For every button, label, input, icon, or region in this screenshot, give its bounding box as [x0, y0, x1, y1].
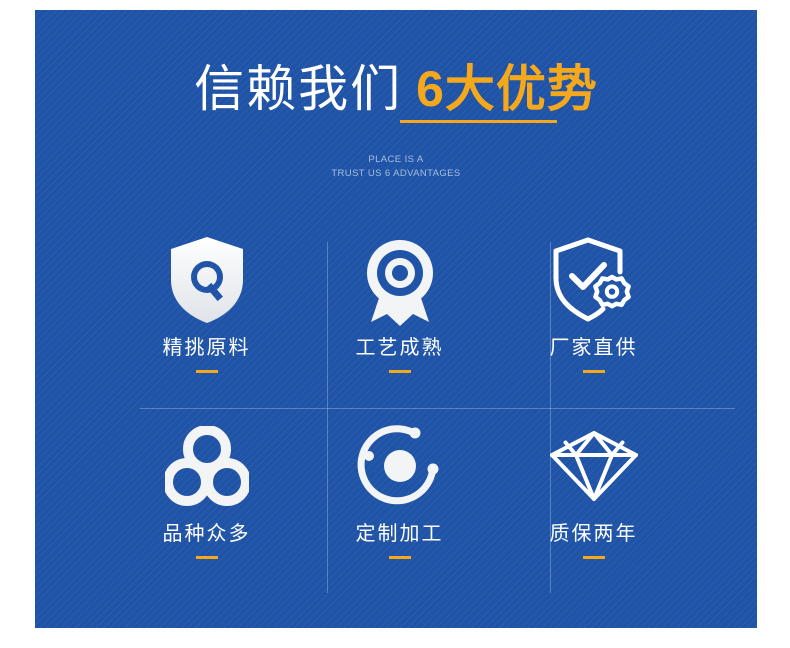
shield-check-gear-icon [497, 234, 690, 326]
feature-label: 工艺成熟 [303, 336, 496, 360]
feature-label: 厂家直供 [497, 336, 690, 360]
feature-label: 精挑原料 [110, 336, 303, 360]
three-rings-icon [110, 420, 303, 512]
feature-item: 厂家直供 [497, 222, 690, 408]
shield-q-icon [110, 234, 303, 326]
subtitle-line-2: TRUST US 6 ADVANTAGES [35, 167, 757, 181]
title-accent-text: 6大优势 [416, 61, 598, 117]
feature-label: 质保两年 [497, 522, 690, 546]
feature-label: 定制加工 [303, 522, 496, 546]
feature-item: 定制加工 [303, 408, 496, 594]
award-ribbon-icon [303, 234, 496, 326]
feature-item: 工艺成熟 [303, 222, 496, 408]
feature-item: 品种众多 [110, 408, 303, 594]
feature-underline [583, 556, 605, 559]
feature-underline [583, 370, 605, 373]
feature-underline [389, 556, 411, 559]
subtitle-line-1: PLACE IS A [35, 153, 757, 167]
feature-item: 质保两年 [497, 408, 690, 594]
feature-underline [389, 370, 411, 373]
title-underline [400, 120, 557, 123]
feature-item: 精挑原料 [110, 222, 303, 408]
features-grid: 精挑原料 工艺成熟 [110, 222, 690, 594]
page-title: 信赖我们6大优势 [35, 64, 757, 114]
diamond-icon [497, 420, 690, 512]
title-main-text: 信赖我们 [194, 61, 402, 117]
feature-underline [196, 556, 218, 559]
feature-underline [196, 370, 218, 373]
orbit-circle-icon [303, 420, 496, 512]
promo-banner: 信赖我们6大优势 PLACE IS A TRUST US 6 ADVANTAGE… [35, 10, 757, 628]
feature-label: 品种众多 [110, 522, 303, 546]
banner-subtitle: PLACE IS A TRUST US 6 ADVANTAGES [35, 153, 757, 181]
